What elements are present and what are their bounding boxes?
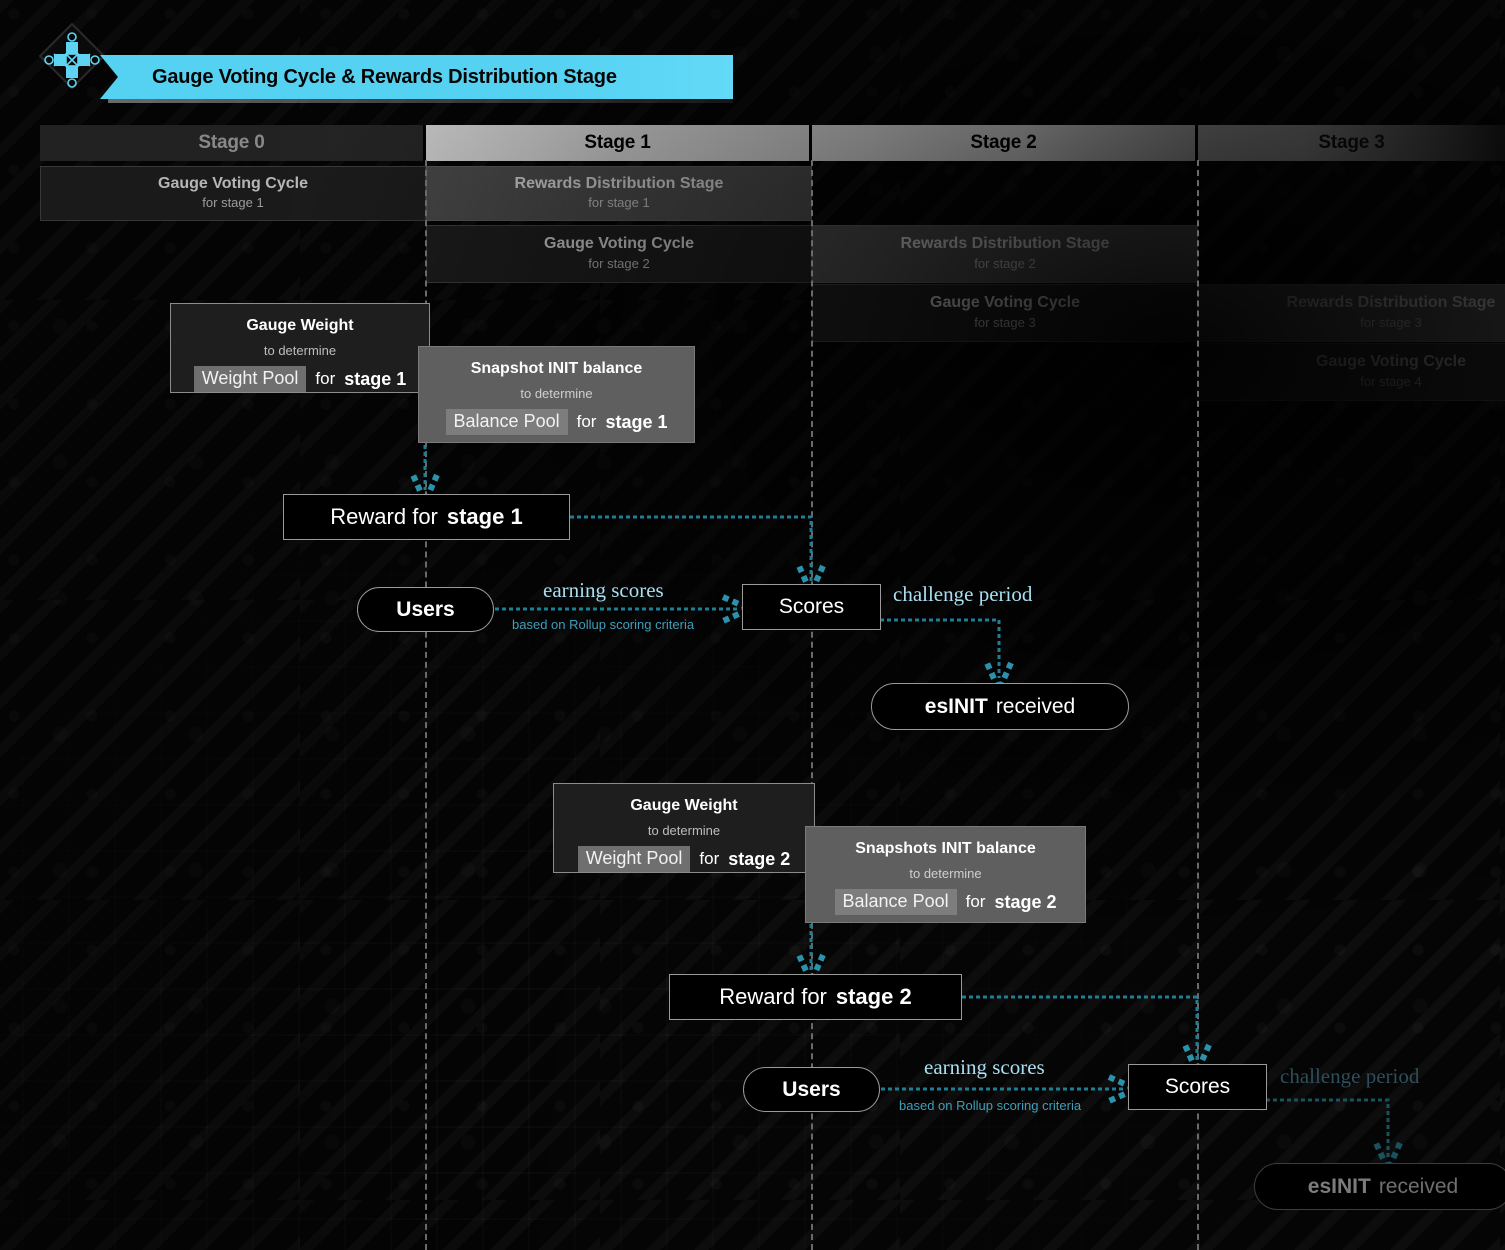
edge-label-text: earning scores [924, 1055, 1045, 1079]
edge-reward1-to-scores1 [570, 517, 811, 581]
pool-mid-label: for [315, 369, 335, 389]
node-esinit-received-stage1: esINIT received [871, 683, 1129, 730]
pool-stage-label: stage 2 [994, 892, 1056, 913]
edge-label-challenge-period-2: challenge period [1280, 1064, 1419, 1089]
edge-label-earning-scores-1: earning scores [543, 578, 664, 603]
pool-card-title: Snapshots INIT balance [855, 840, 1035, 858]
pool-card-value-line: Balance Pool for stage 2 [835, 889, 1057, 915]
pool-mid-label: for [966, 892, 986, 912]
pool-card-subtitle: to determine [909, 866, 981, 881]
pool-chip-balance-pool: Balance Pool [835, 889, 957, 915]
edge-label-scoring-criteria-2: based on Rollup scoring criteria [899, 1098, 1081, 1113]
node-scores-stage1: Scores [742, 584, 881, 630]
node-esinit-rest-label: received [996, 695, 1075, 719]
reward-stage-label: stage 1 [447, 504, 523, 530]
reward-prefix-label: Reward for [719, 984, 827, 1010]
node-esinit-rest-label: received [1379, 1175, 1458, 1199]
pool-chip-weight-pool: Weight Pool [194, 366, 307, 392]
reward-stage-label: stage 2 [836, 984, 912, 1010]
pool-card-gauge-weight-stage2: Gauge Weight to determine Weight Pool fo… [553, 783, 815, 873]
pool-card-gauge-weight-stage1: Gauge Weight to determine Weight Pool fo… [170, 303, 430, 393]
title-banner: Gauge Voting Cycle & Rewards Distributio… [100, 55, 733, 99]
pool-card-value-line: Weight Pool for stage 1 [194, 366, 407, 392]
edge-label-text: based on Rollup scoring criteria [512, 617, 694, 632]
node-esinit-received-stage2: esINIT received [1254, 1163, 1505, 1210]
node-esinit-bold-label: esINIT [925, 695, 988, 719]
node-scores-label: Scores [1165, 1075, 1230, 1099]
node-users-stage1: Users [357, 587, 494, 632]
edge-reward2-to-scores2 [962, 997, 1197, 1060]
node-users-label: Users [782, 1078, 840, 1102]
node-scores-stage2: Scores [1128, 1064, 1267, 1110]
pool-chip-balance-pool: Balance Pool [446, 409, 568, 435]
edge-label-scoring-criteria-1: based on Rollup scoring criteria [512, 617, 694, 632]
pool-stage-label: stage 1 [344, 369, 406, 390]
edge-label-text: challenge period [1280, 1064, 1419, 1088]
pool-card-subtitle: to determine [520, 386, 592, 401]
edge-scores2-to-esinit2 [1266, 1100, 1388, 1158]
edge-label-earning-scores-2: earning scores [924, 1055, 1045, 1080]
edge-label-text: based on Rollup scoring criteria [899, 1098, 1081, 1113]
title-label: Gauge Voting Cycle & Rewards Distributio… [152, 66, 617, 89]
pool-card-value-line: Weight Pool for stage 2 [578, 846, 791, 872]
pool-card-value-line: Balance Pool for stage 1 [446, 409, 668, 435]
pool-stage-label: stage 1 [605, 412, 667, 433]
edge-label-text: challenge period [893, 582, 1032, 606]
pool-mid-label: for [577, 412, 597, 432]
reward-prefix-label: Reward for [330, 504, 438, 530]
node-users-label: Users [396, 598, 454, 622]
diamond-grid-icon [38, 22, 106, 90]
pool-stage-label: stage 2 [728, 849, 790, 870]
pool-card-title: Snapshot INIT balance [471, 360, 643, 378]
node-users-stage2: Users [743, 1067, 880, 1112]
reward-box-stage2: Reward for stage 2 [669, 974, 962, 1020]
title-bar-shadow [108, 99, 733, 103]
reward-box-stage1: Reward for stage 1 [283, 494, 570, 540]
pool-card-title: Gauge Weight [630, 797, 737, 815]
pool-chip-weight-pool: Weight Pool [578, 846, 691, 872]
edge-scores1-to-esinit1 [880, 620, 999, 678]
edge-label-text: earning scores [543, 578, 664, 602]
pool-card-title: Gauge Weight [246, 317, 353, 335]
pool-card-snapshots-init-balance-stage2: Snapshots INIT balance to determine Bala… [805, 826, 1086, 923]
node-esinit-bold-label: esINIT [1308, 1175, 1371, 1199]
node-scores-label: Scores [779, 595, 844, 619]
edge-label-challenge-period-1: challenge period [893, 582, 1032, 607]
pool-card-subtitle: to determine [648, 823, 720, 838]
pool-card-subtitle: to determine [264, 343, 336, 358]
pool-card-snapshot-init-balance-stage1: Snapshot INIT balance to determine Balan… [418, 346, 695, 443]
pool-mid-label: for [699, 849, 719, 869]
